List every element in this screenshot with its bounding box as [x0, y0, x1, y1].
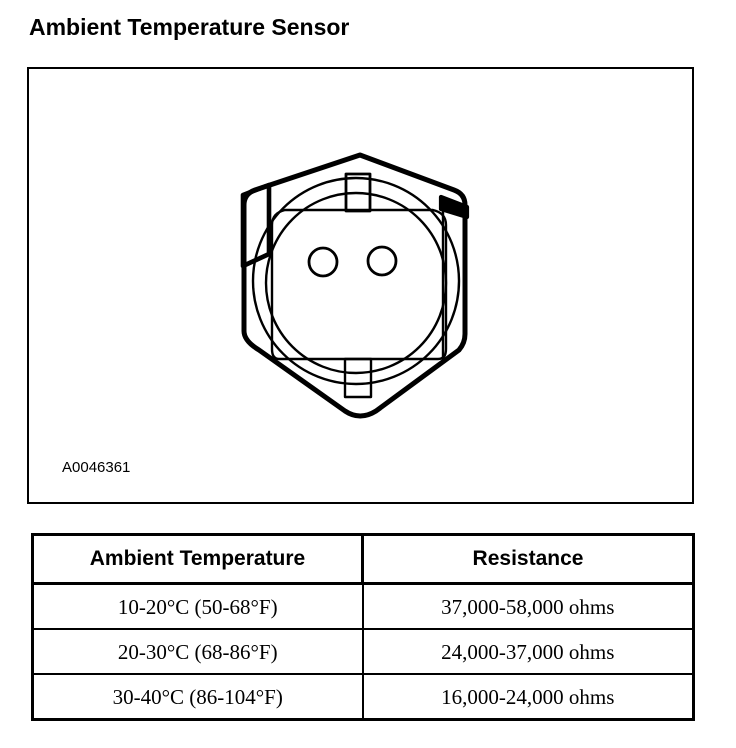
connector-pin-hole-left [309, 248, 337, 276]
connector-inner-ring [266, 193, 446, 373]
table-row: 30-40°C (86-104°F) 16,000-24,000 ohms [33, 674, 694, 720]
cell-temperature-range-2: 20-30°C (68-86°F) [33, 629, 363, 674]
connector-bottom-tab [345, 359, 371, 397]
cell-resistance-range-1: 37,000-58,000 ohms [363, 584, 694, 630]
figure-code-label: A0046361 [62, 459, 130, 476]
resistance-specification-table: Ambient Temperature Resistance 10-20°C (… [31, 533, 695, 721]
cell-resistance-range-2: 24,000-37,000 ohms [363, 629, 694, 674]
cell-temperature-range-3: 30-40°C (86-104°F) [33, 674, 363, 720]
connector-pin-hole-right [368, 247, 396, 275]
sensor-connector-svg [29, 69, 692, 502]
table-header-row: Ambient Temperature Resistance [33, 535, 694, 584]
cell-resistance-range-3: 16,000-24,000 ohms [363, 674, 694, 720]
column-header-resistance: Resistance [363, 535, 694, 584]
cell-temperature-range-1: 10-20°C (50-68°F) [33, 584, 363, 630]
figure-frame: A0046361 [27, 67, 694, 504]
table-row: 20-30°C (68-86°F) 24,000-37,000 ohms [33, 629, 694, 674]
table-row: 10-20°C (50-68°F) 37,000-58,000 ohms [33, 584, 694, 630]
page-title: Ambient Temperature Sensor [29, 14, 349, 41]
sensor-connector-illustration [29, 69, 692, 502]
connector-face-plate [272, 210, 446, 359]
column-header-ambient-temperature: Ambient Temperature [33, 535, 363, 584]
